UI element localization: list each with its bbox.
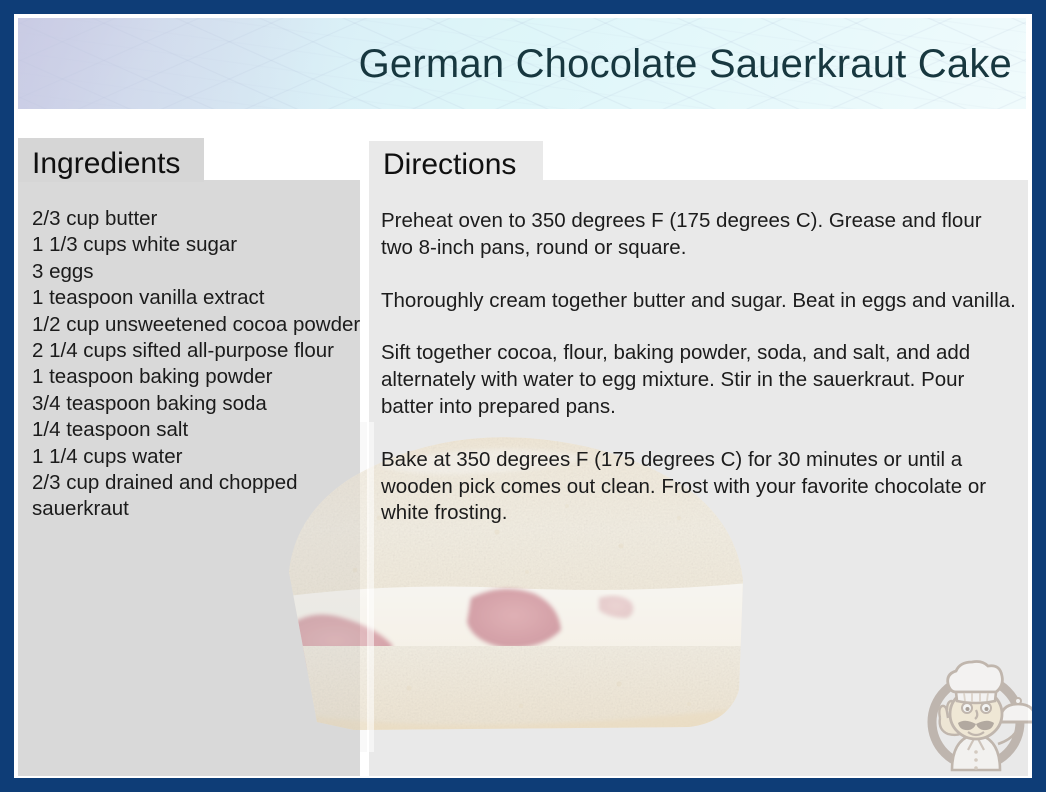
directions-tab: Directions xyxy=(369,141,543,183)
list-item: 3/4 teaspoon baking soda xyxy=(32,391,364,417)
list-item: 1/4 teaspoon salt xyxy=(32,417,364,443)
list-item: 1 1/4 cups water xyxy=(32,444,364,470)
banner-left-fade xyxy=(18,18,348,109)
list-item: 2/3 cup butter xyxy=(32,206,364,232)
title-banner: German Chocolate Sauerkraut Cake xyxy=(18,18,1026,109)
list-item: 2 1/4 cups sifted all-purpose flour xyxy=(32,338,364,364)
list-item: 2/3 cup drained and chopped sauerkraut xyxy=(32,470,364,523)
ingredients-tab: Ingredients xyxy=(18,138,204,182)
list-item: 1 teaspoon baking powder xyxy=(32,364,364,390)
ingredients-heading: Ingredients xyxy=(32,149,180,179)
direction-step: Thoroughly cream together butter and sug… xyxy=(381,288,1016,315)
page-title: German Chocolate Sauerkraut Cake xyxy=(359,44,1012,84)
list-item: 1/2 cup unsweetened cocoa powder xyxy=(32,312,364,338)
direction-step: Preheat oven to 350 degrees F (175 degre… xyxy=(381,208,1016,262)
recipe-card: German Chocolate Sauerkraut Cake Ingredi… xyxy=(0,0,1046,792)
directions-list: Preheat oven to 350 degrees F (175 degre… xyxy=(381,208,1016,527)
ingredients-list: 2/3 cup butter 1 1/3 cups white sugar 3 … xyxy=(32,206,364,523)
list-item: 1 1/3 cups white sugar xyxy=(32,232,364,258)
directions-heading: Directions xyxy=(383,150,516,180)
list-item: 3 eggs xyxy=(32,259,364,285)
direction-step: Bake at 350 degrees F (175 degrees C) fo… xyxy=(381,447,1016,527)
direction-step: Sift together cocoa, flour, baking powde… xyxy=(381,340,1016,420)
list-item: 1 teaspoon vanilla extract xyxy=(32,285,364,311)
